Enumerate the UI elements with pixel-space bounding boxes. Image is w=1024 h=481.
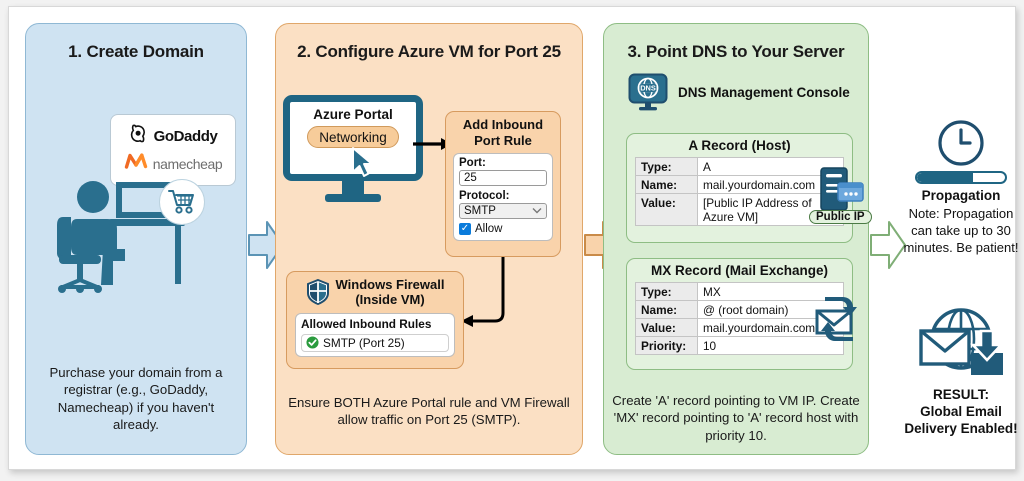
result-block: RESULT: Global Email Delivery Enabled! — [901, 307, 1021, 438]
godaddy-logo-icon — [129, 124, 149, 149]
mx-row-key-0: Type: — [636, 283, 698, 301]
propagation-note: Note: Propagation can take up to 30 minu… — [901, 206, 1021, 257]
firewall-title-line2: (Inside VM) — [336, 292, 445, 307]
panel-footer-2: Ensure BOTH Azure Portal rule and VM Fir… — [284, 394, 574, 429]
shopping-cart-badge — [159, 179, 205, 225]
panel-title-1: 1. Create Domain — [26, 42, 246, 62]
monitor-screen: Azure Portal Networking — [283, 95, 423, 181]
arrow-portrule-to-firewall — [457, 257, 511, 333]
godaddy-logo-row: GoDaddy — [129, 124, 218, 149]
mx-row-key-1: Name: — [636, 301, 698, 319]
a-row-key-2: Value: — [636, 194, 698, 226]
allow-checkbox-row[interactable]: ✓ Allow — [459, 223, 547, 235]
global-email-delivery-icon — [909, 307, 1013, 383]
allow-checkbox[interactable]: ✓ — [459, 223, 471, 235]
table-row: Name: mail.yourdomain.com — [636, 176, 844, 194]
port-input[interactable]: 25 — [459, 170, 547, 186]
protocol-select[interactable]: SMTP — [459, 203, 547, 219]
result-line-3: Delivery Enabled! — [901, 421, 1021, 438]
panel-footer-1: Purchase your domain from a registrar (e… — [34, 364, 238, 434]
result-line-1: RESULT: — [901, 387, 1021, 404]
propagation-progress-fill — [917, 173, 973, 182]
protocol-label: Protocol: — [459, 190, 547, 202]
shopping-cart-icon — [168, 189, 196, 215]
networking-button[interactable]: Networking — [307, 126, 399, 148]
dns-monitor-icon: DNS — [628, 73, 668, 111]
monitor-stand-base — [325, 194, 381, 202]
result-line-2: Global Email — [901, 404, 1021, 421]
a-row-key-0: Type: — [636, 158, 698, 176]
mx-row-key-2: Value: — [636, 319, 698, 337]
allow-label: Allow — [475, 223, 502, 235]
mouse-pointer-icon — [350, 146, 376, 178]
panel-footer-3: Create 'A' record pointing to VM IP. Cre… — [612, 392, 860, 444]
svg-text:DNS: DNS — [640, 84, 656, 93]
public-ip-badge: Public IP — [809, 210, 872, 224]
port-rule-title: Add Inbound Port Rule — [453, 117, 553, 148]
allowed-inbound-rules-header: Allowed Inbound Rules — [301, 317, 449, 331]
propagation-block: Propagation Note: Propagation can take u… — [901, 119, 1021, 257]
dns-management-console-row: DNS DNS Management Console — [628, 73, 850, 111]
clock-icon — [937, 119, 985, 167]
panel-title-2: 2. Configure Azure VM for Port 25 — [276, 42, 582, 62]
add-inbound-port-rule-card: Add Inbound Port Rule Port: 25 Protocol:… — [445, 111, 561, 257]
check-circle-icon — [306, 336, 319, 349]
firewall-title: Windows Firewall (Inside VM) — [336, 277, 445, 308]
namecheap-logo-icon — [124, 151, 148, 176]
firewall-rule-label: SMTP (Port 25) — [323, 336, 405, 350]
monitor-stand-neck — [342, 181, 364, 194]
port-rule-fields: Port: 25 Protocol: SMTP ✓ Allow — [453, 153, 553, 241]
propagation-progress-bar — [915, 171, 1007, 184]
windows-firewall-card: Windows Firewall (Inside VM) Allowed Inb… — [286, 271, 464, 369]
panel-title-3: 3. Point DNS to Your Server — [604, 42, 868, 62]
shield-icon — [306, 279, 330, 305]
protocol-value: SMTP — [464, 205, 496, 217]
namecheap-label: namecheap — [153, 156, 223, 172]
godaddy-label: GoDaddy — [154, 128, 218, 145]
firewall-header: Windows Firewall (Inside VM) — [295, 277, 455, 308]
a-row-key-1: Name: — [636, 176, 698, 194]
azure-portal-monitor: Azure Portal Networking — [283, 95, 423, 195]
propagation-title: Propagation — [901, 188, 1021, 203]
table-row: Type: A — [636, 158, 844, 176]
chevron-down-icon — [532, 205, 542, 217]
a-record-title: A Record (Host) — [635, 138, 844, 153]
azure-portal-label: Azure Portal — [290, 107, 416, 122]
dns-console-label: DNS Management Console — [678, 85, 850, 100]
namecheap-logo-row: namecheap — [124, 151, 223, 176]
server-icon — [819, 167, 865, 213]
firewall-rule-item[interactable]: SMTP (Port 25) — [301, 334, 449, 352]
mail-exchange-icon — [809, 293, 863, 345]
port-label: Port: — [459, 157, 547, 169]
firewall-title-line1: Windows Firewall — [336, 277, 445, 292]
allowed-inbound-rules-list: Allowed Inbound Rules SMTP (Port 25) — [295, 313, 455, 357]
mx-row-key-3: Priority: — [636, 337, 698, 355]
diagram-canvas: 1. Create Domain Purchase your domain fr… — [8, 6, 1016, 470]
mx-record-title: MX Record (Mail Exchange) — [635, 263, 844, 278]
